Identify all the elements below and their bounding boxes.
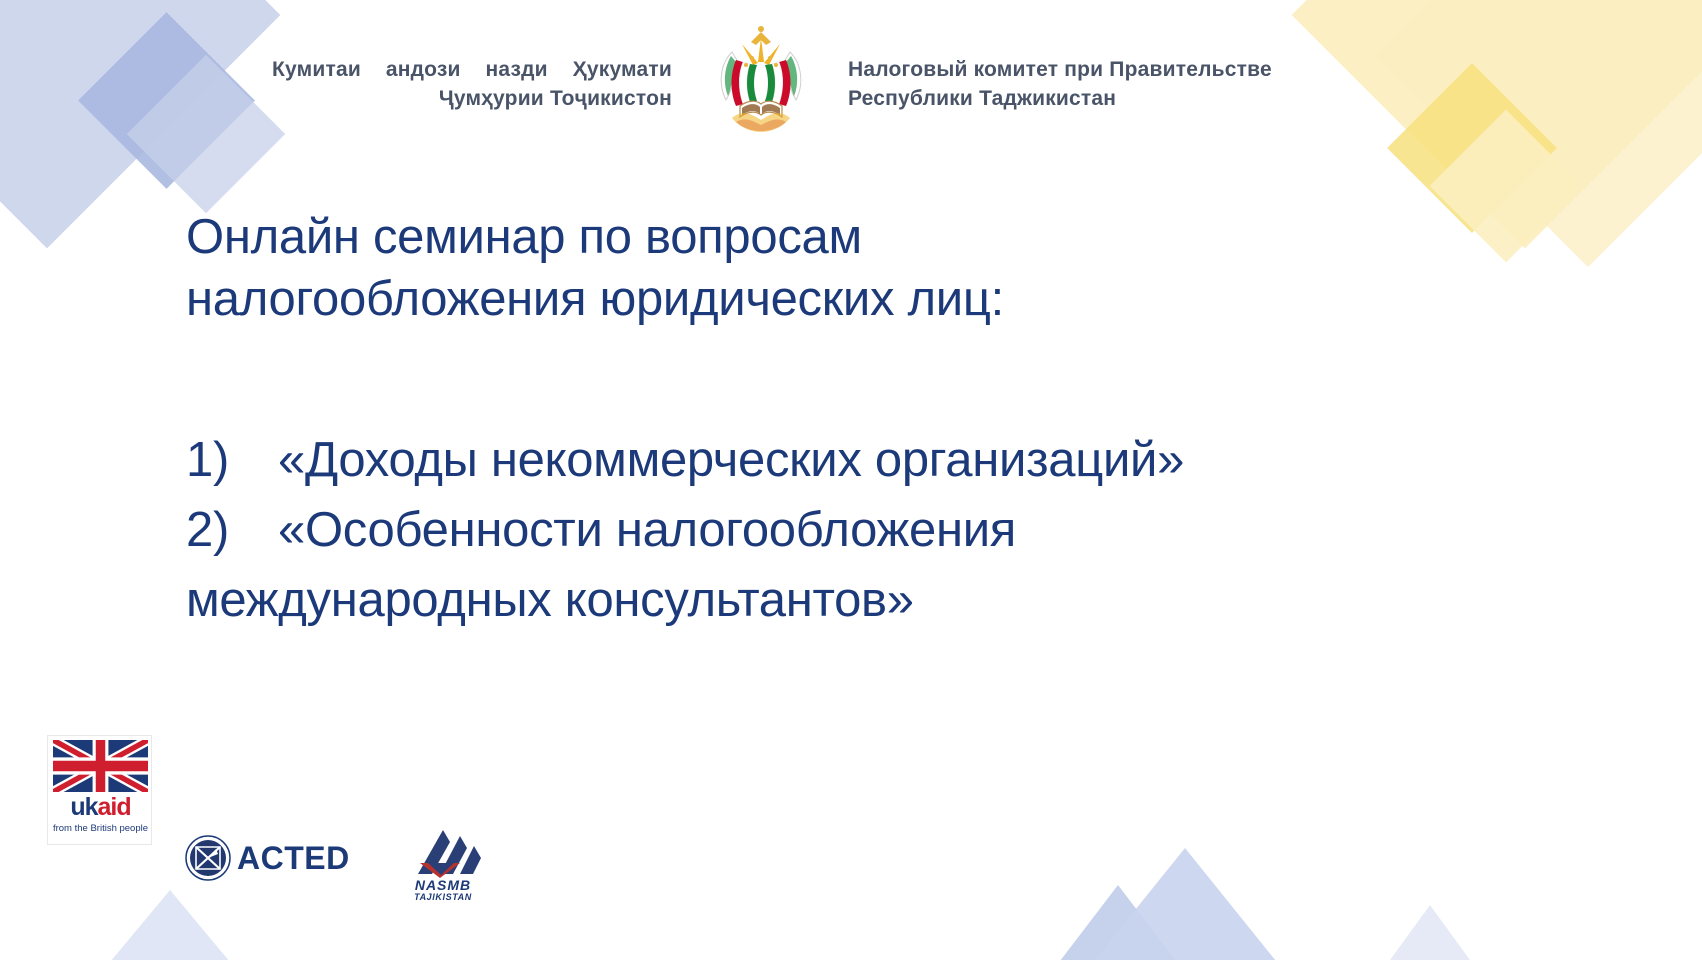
topic-list-item-1-number: 1)	[186, 425, 278, 495]
nasmb-subtitle: TAJIKISTAN	[388, 892, 498, 902]
ukaid-wordmark: ukaid	[48, 794, 153, 821]
slide-title: Онлайн семинар по вопросам налогообложен…	[186, 206, 1466, 330]
header-org-name-russian: Налоговый комитет при Правительстве Респ…	[848, 55, 1308, 113]
header-org-name-russian-line2: Республики Таджикистан	[848, 84, 1308, 113]
nasmb-wordmark: NASMB	[388, 878, 498, 893]
acted-emblem-icon	[185, 835, 231, 881]
union-jack-flag-icon	[53, 740, 148, 792]
topic-list-item-2-text: «Особенности налогообложения	[278, 503, 1016, 557]
nasmb-emblem-icon	[388, 822, 498, 880]
slide-title-line1: Онлайн семинар по вопросам	[186, 206, 1466, 268]
decor-triangle-bottom-large	[1090, 848, 1280, 960]
ukaid-word-aid: aid	[98, 793, 131, 821]
decor-triangle-bottom-right	[1390, 905, 1470, 960]
topic-list-item-2: 2)«Особенности налогообложения	[186, 495, 1486, 565]
topic-list-item-1: 1)«Доходы некоммерческих организаций»	[186, 425, 1486, 495]
topic-list-item-1-text: «Доходы некоммерческих организаций»	[278, 433, 1184, 487]
topic-list: 1)«Доходы некоммерческих организаций» 2)…	[186, 425, 1486, 635]
header-org-name-tajik: Кумитаи андози назди Ҳукумати Ҷумҳурии Т…	[272, 55, 672, 113]
decor-triangle-bottom-small	[1060, 885, 1176, 960]
acted-wordmark: ACTED	[237, 841, 350, 875]
topic-list-item-2-text-continued: международных консультантов»	[186, 565, 1486, 635]
acted-logo: ACTED	[185, 835, 345, 885]
tajikistan-state-emblem-icon	[702, 18, 820, 136]
header-org-name-tajik-line1: Кумитаи андози назди Ҳукумати	[272, 55, 672, 84]
header-org-name-tajik-line2: Ҷумҳурии Тоҷикистон	[272, 84, 672, 113]
ukaid-tagline: from the British people	[48, 823, 153, 834]
slide-header: Кумитаи андози назди Ҳукумати Ҷумҳурии Т…	[0, 0, 1702, 150]
ukaid-logo: ukaid from the British people	[47, 735, 152, 845]
topic-list-item-2-number: 2)	[186, 495, 278, 565]
nasmb-tajikistan-logo: NASMB TAJIKISTAN	[388, 822, 498, 907]
header-org-name-russian-line1: Налоговый комитет при Правительстве	[848, 55, 1308, 84]
presentation-slide: Кумитаи андози назди Ҳукумати Ҷумҳурии Т…	[0, 0, 1702, 960]
slide-title-line2: налогообложения юридических лиц:	[186, 268, 1466, 330]
ukaid-word-uk: uk	[70, 793, 97, 821]
